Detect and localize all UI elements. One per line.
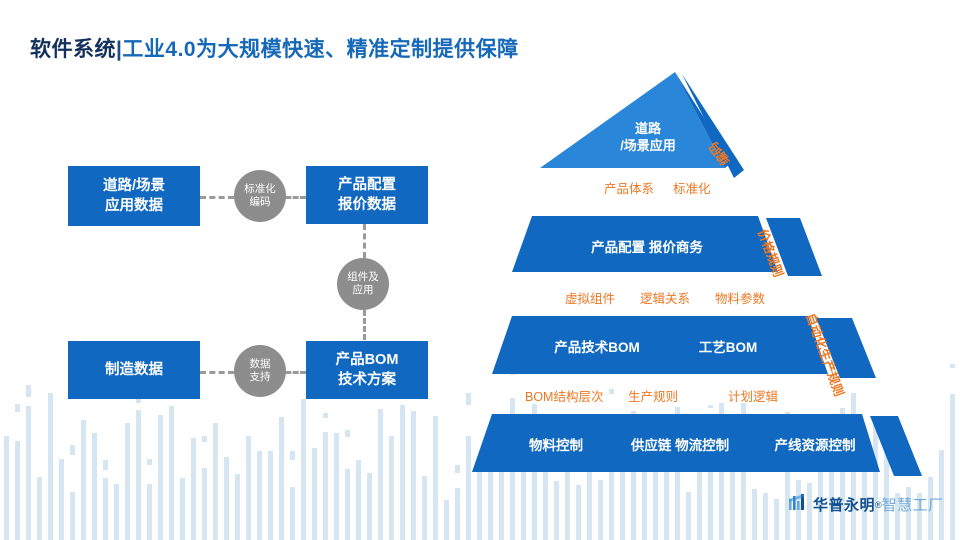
pyramid-level-4-title-1: 物料控制 <box>506 434 606 454</box>
pattern-bar <box>312 448 317 540</box>
flow-box-product-bom-plan[interactable]: 产品BOM 技术方案 <box>306 341 428 399</box>
pattern-bar <box>554 481 559 540</box>
pattern-bar <box>48 393 53 540</box>
pyramid-level-4-title-3: 产线资源控制 <box>750 434 880 454</box>
pyramid-level-3-subtitle-3: 计划逻辑 <box>728 386 778 405</box>
pattern-bar <box>279 417 284 540</box>
pattern-bar <box>444 500 449 540</box>
pyramid-level-1-title-line1: 道路 <box>588 120 708 137</box>
pattern-bar <box>37 477 42 540</box>
pattern-bar <box>323 432 328 540</box>
pattern-bar <box>378 409 383 540</box>
flow-box-product-quote-data-line1: 产品配置 <box>338 175 396 195</box>
pattern-bar <box>191 438 196 540</box>
pattern-bar <box>213 423 218 540</box>
pattern-bar <box>4 436 9 540</box>
pyramid-level-3-subtitle-2: 生产规则 <box>628 386 678 405</box>
pyramid-level-2-title: 产品配置 报价商务 <box>532 236 762 256</box>
pattern-bar <box>114 484 119 540</box>
pattern-dot <box>70 445 75 455</box>
page-title-secondary: 工业4.0为大规模快速、精准定制提供保障 <box>122 38 518 61</box>
slide-canvas: 软件系统|工业4.0为大规模快速、精准定制提供保障 道路/场景 应用数据 标准化… <box>0 0 960 540</box>
pattern-bar <box>180 478 185 540</box>
pyramid-level-1-title-line2: /场景应用 <box>588 137 708 154</box>
trademark-symbol: ® <box>875 500 882 510</box>
pattern-dot <box>15 404 20 412</box>
flow-box-product-quote-data-line2: 报价数据 <box>338 195 396 215</box>
pattern-bar <box>169 406 174 540</box>
pattern-bar <box>103 478 108 540</box>
flow-box-manufacturing-data[interactable]: 制造数据 <box>68 341 200 399</box>
pattern-dot <box>202 436 207 442</box>
pattern-bar <box>224 457 229 540</box>
pattern-bar <box>235 474 240 540</box>
pattern-bar <box>15 441 20 540</box>
connector-line-vertical <box>363 224 366 258</box>
flow-connector-component-app-line1: 组件及 <box>347 271 379 284</box>
page-title: 软件系统|工业4.0为大规模快速、精准定制提供保障 <box>30 33 519 63</box>
pattern-dot <box>455 465 460 473</box>
pattern-bar <box>752 489 757 540</box>
pattern-bar <box>268 451 273 540</box>
pattern-bar <box>576 485 581 540</box>
pattern-bar <box>136 410 141 540</box>
pyramid-level-4-title-2: 供应链 物流控制 <box>610 434 750 454</box>
pattern-bar <box>257 451 262 540</box>
pattern-bar <box>158 415 163 540</box>
pattern-bar <box>686 492 691 540</box>
pattern-dot <box>147 459 152 465</box>
pattern-bar <box>125 423 130 540</box>
pattern-bar <box>422 476 427 540</box>
pattern-bar <box>70 492 75 540</box>
pyramid-level-2-subtitle-3: 物料参数 <box>715 288 765 307</box>
pattern-dot <box>323 413 328 418</box>
pattern-bar <box>345 469 350 540</box>
pattern-bar <box>950 394 955 540</box>
flow-connector-data-support-line2: 支持 <box>250 371 271 384</box>
pattern-bar <box>81 420 86 540</box>
pattern-bar <box>774 499 779 540</box>
pattern-bar <box>147 484 152 540</box>
pattern-dot <box>103 460 108 470</box>
pattern-dot <box>26 385 31 397</box>
pyramid-level-1-subtitle-2: 标准化 <box>673 178 711 197</box>
pattern-bar <box>301 399 306 540</box>
pattern-bar <box>389 436 394 540</box>
pattern-bar <box>367 473 372 540</box>
flow-box-product-bom-plan-line2: 技术方案 <box>336 370 399 390</box>
pyramid-level-3-title-1: 产品技术BOM <box>532 336 662 356</box>
pattern-bar <box>26 406 31 540</box>
brand-name: 华普永明 <box>813 494 875 515</box>
pattern-bar <box>400 405 405 540</box>
pattern-bar <box>763 493 768 540</box>
pattern-bar <box>246 436 251 540</box>
pattern-dot <box>345 430 350 437</box>
pattern-bar <box>356 460 361 540</box>
brand-logo: 华普永明®智慧工厂 <box>788 492 944 517</box>
pattern-dot <box>290 451 295 460</box>
connector-line-bottom-left <box>200 371 234 374</box>
flow-box-road-scene-data[interactable]: 道路/场景 应用数据 <box>68 166 200 226</box>
pyramid-level-2-subtitle-2: 逻辑关系 <box>640 288 690 307</box>
pyramid-level-3-title-2: 工艺BOM <box>678 336 778 356</box>
flow-box-product-bom-plan-line1: 产品BOM <box>336 350 399 370</box>
pattern-bar <box>411 411 416 540</box>
flow-connector-component-app[interactable]: 组件及 应用 <box>337 258 389 310</box>
flow-connector-standard-coding-line2: 编码 <box>244 196 276 209</box>
pyramid-level-1-title: 道路 /场景应用 <box>588 120 708 154</box>
flow-connector-data-support[interactable]: 数据 支持 <box>234 345 286 397</box>
pattern-bar <box>433 416 438 540</box>
flow-box-manufacturing-data-line1: 制造数据 <box>105 360 163 380</box>
flow-box-product-quote-data[interactable]: 产品配置 报价数据 <box>306 166 428 224</box>
huapu-logo-icon <box>788 492 808 517</box>
flow-connector-data-support-line1: 数据 <box>250 358 271 371</box>
flow-connector-standard-coding-line1: 标准化 <box>244 183 276 196</box>
pyramid-level-2-subtitle-1: 虚拟组件 <box>565 288 615 307</box>
pyramid-level-1-subtitle-1: 产品体系 <box>604 178 654 197</box>
flow-connector-standard-coding[interactable]: 标准化 编码 <box>234 170 286 222</box>
pattern-bar <box>59 459 64 540</box>
pyramid-level-3-subtitle-1: BOM结构层次 <box>525 386 603 405</box>
pattern-dot <box>950 364 955 368</box>
connector-line-top-left <box>200 196 234 199</box>
pattern-bar <box>92 433 97 540</box>
pattern-bar <box>455 488 460 540</box>
pattern-bar <box>598 480 603 540</box>
pattern-bar <box>334 433 339 540</box>
flow-box-road-scene-data-line1: 道路/场景 <box>103 176 165 196</box>
page-title-primary: 软件系统 <box>30 38 116 61</box>
pyramid-diagram: 道路 /场景应用 产品体系 标准化 编码 产品配置 报价商务 虚拟组件 逻辑关系… <box>470 66 940 486</box>
flow-connector-component-app-line2: 应用 <box>347 284 379 297</box>
pattern-bar <box>202 468 207 540</box>
flow-box-road-scene-data-line2: 应用数据 <box>103 196 165 216</box>
product-name: 智慧工厂 <box>882 494 944 515</box>
pattern-bar <box>290 487 295 540</box>
